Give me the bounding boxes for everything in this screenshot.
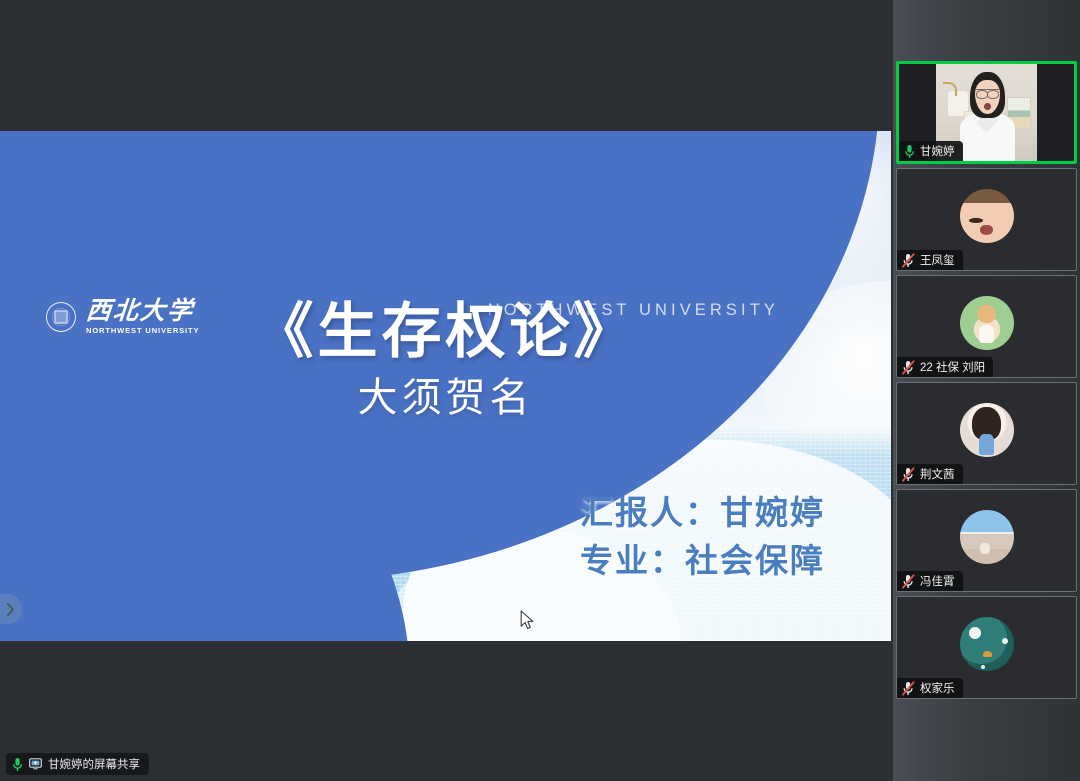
microphone-icon xyxy=(12,757,23,772)
participant-name-badge: 权家乐 xyxy=(897,678,963,698)
screen-share-label: 甘婉婷的屏幕共享 xyxy=(48,756,140,772)
participant-name-badge: 荆文茜 xyxy=(897,464,963,484)
screen-share-indicator: 甘婉婷的屏幕共享 xyxy=(6,753,149,775)
microphone-muted-icon xyxy=(902,253,915,268)
participant-avatar xyxy=(960,296,1014,350)
participant-avatar xyxy=(960,403,1014,457)
participant-tile[interactable]: 冯佳霄 xyxy=(896,489,1077,592)
participant-avatar xyxy=(960,510,1014,564)
participant-avatar xyxy=(960,617,1014,671)
slide-subtitle: 大须贺名 xyxy=(0,365,891,423)
participant-name: 冯佳霄 xyxy=(920,573,955,589)
presenter-info: 汇报人：甘婉婷 专业：社会保障 xyxy=(580,491,825,587)
participant-name: 甘婉婷 xyxy=(920,143,955,159)
participant-name-badge: 甘婉婷 xyxy=(899,141,963,161)
microphone-muted-icon xyxy=(902,574,915,589)
participant-avatar xyxy=(960,189,1014,243)
screen-share-icon xyxy=(29,758,42,770)
participant-name: 22 社保 刘阳 xyxy=(920,359,985,375)
meeting-window: 2023 西北大学 NORTHWEST UNIVERSITY NORTHWEST… xyxy=(0,0,1080,781)
participant-tile[interactable]: 王凤玺 xyxy=(896,168,1077,271)
presentation-slide[interactable]: 2023 西北大学 NORTHWEST UNIVERSITY NORTHWEST… xyxy=(0,131,891,641)
microphone-muted-icon xyxy=(902,467,915,482)
microphone-icon xyxy=(904,144,915,159)
video-person-glasses xyxy=(976,89,999,97)
microphone-muted-icon xyxy=(902,360,915,375)
participant-name: 王凤玺 xyxy=(920,252,955,268)
shared-screen-area[interactable]: 2023 西北大学 NORTHWEST UNIVERSITY NORTHWEST… xyxy=(0,0,893,781)
video-person-mouth xyxy=(984,103,991,110)
participant-tile[interactable]: 甘婉婷 xyxy=(896,61,1077,164)
participant-name-badge: 王凤玺 xyxy=(897,250,963,270)
participant-name: 荆文茜 xyxy=(920,466,955,482)
participant-filmstrip[interactable]: 甘婉婷 王凤玺 xyxy=(893,0,1080,781)
participant-tile[interactable]: 荆文茜 xyxy=(896,382,1077,485)
participant-name-badge: 22 社保 刘阳 xyxy=(897,357,993,377)
slide-title: 《生存权论》 xyxy=(0,283,891,370)
participant-name-badge: 冯佳霄 xyxy=(897,571,963,591)
chevron-right-icon xyxy=(6,603,15,616)
participant-tile[interactable]: 权家乐 xyxy=(896,596,1077,699)
presenter-name-line: 汇报人：甘婉婷 xyxy=(580,491,825,539)
microphone-muted-icon xyxy=(902,681,915,696)
presenter-major-line: 专业：社会保障 xyxy=(580,539,825,587)
participant-tile[interactable]: 22 社保 刘阳 xyxy=(896,275,1077,378)
participant-name: 权家乐 xyxy=(920,680,955,696)
